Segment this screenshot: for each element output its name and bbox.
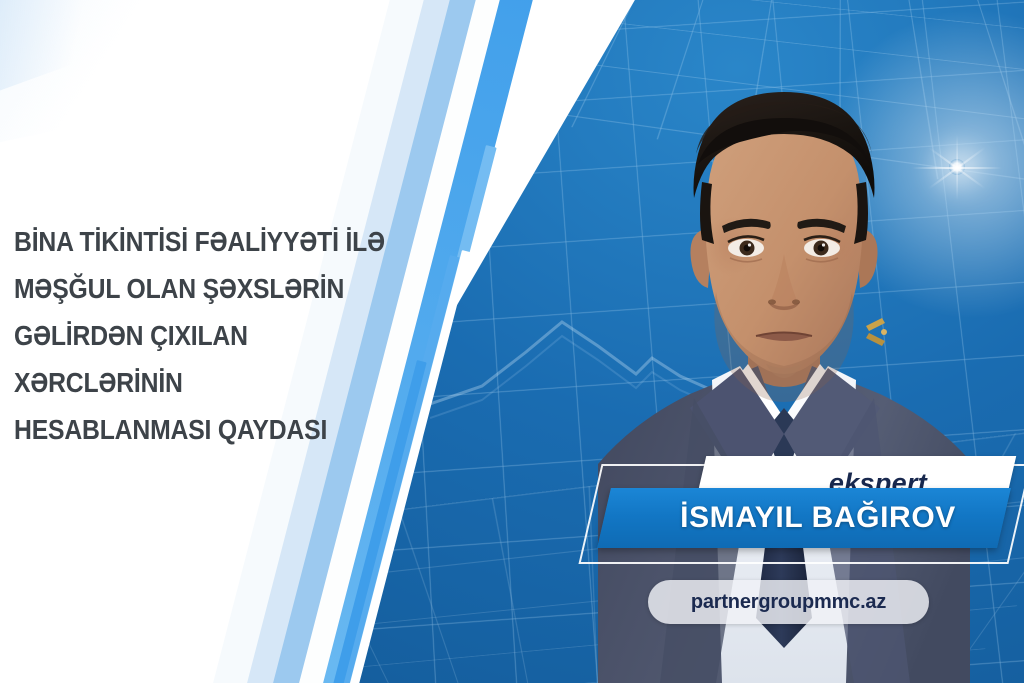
speaker-name-banner: ekspert İSMAYIL BAĞIROV (590, 450, 1024, 570)
website-url-pill[interactable]: partnergroupmmc.az (648, 580, 929, 624)
poster-title: BİNA TİKİNTİSİ FƏALİYYƏTİ İLƏ MƏŞĞUL OLA… (14, 218, 401, 453)
corner-wisp-decoration (0, 0, 192, 153)
lapel-pin-icon (866, 318, 887, 346)
website-url-text: partnergroupmmc.az (691, 591, 886, 614)
corner-wisp-decoration-2 (0, 0, 166, 102)
poster-canvas: BİNA TİKİNTİSİ FƏALİYYƏTİ İLƏ MƏŞĞUL OLA… (0, 0, 1024, 683)
speaker-name: İSMAYIL BAĞIROV (604, 488, 1004, 548)
